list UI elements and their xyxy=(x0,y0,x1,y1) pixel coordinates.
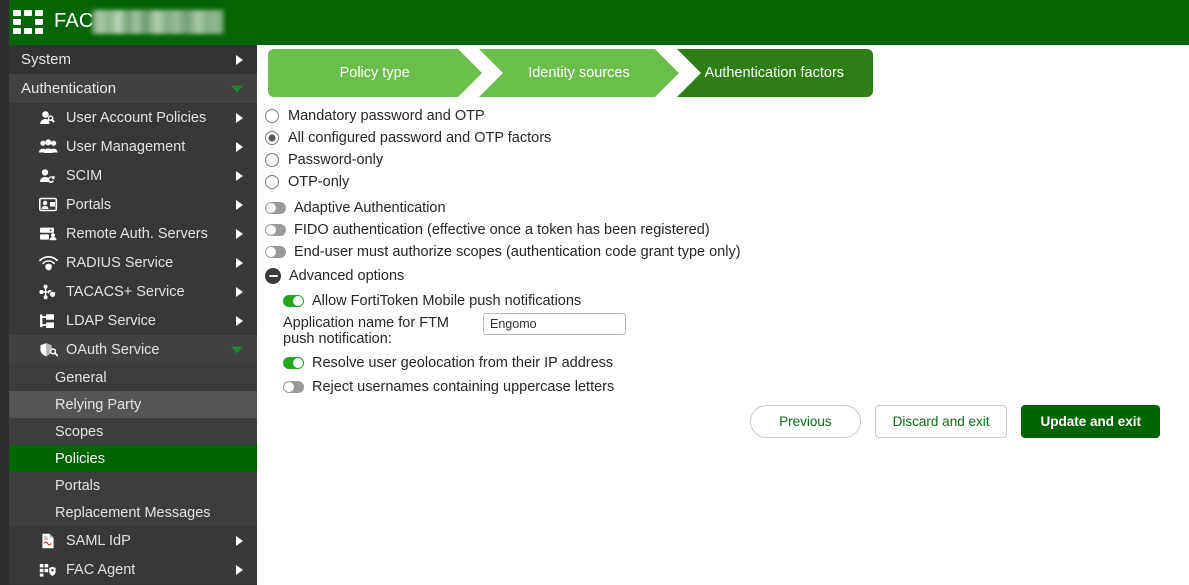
chevron-down-icon xyxy=(231,346,243,353)
header-left-gutter xyxy=(0,0,9,45)
factor-radio-group: Mandatory password and OTP All configure… xyxy=(257,105,1189,193)
wizard-step-authentication-factors[interactable]: Authentication factors xyxy=(677,49,872,97)
chevron-right-icon xyxy=(236,287,243,297)
wizard-steps: Policy type Identity sources Authenticat… xyxy=(268,49,872,97)
sidebar-item-label: Authentication xyxy=(21,80,116,97)
wizard-step-label: Identity sources xyxy=(518,65,640,81)
discard-and-exit-button[interactable]: Discard and exit xyxy=(875,405,1008,438)
sidebar-item-relying-party[interactable]: Relying Party xyxy=(9,391,257,418)
sidebar-item-oauth-service[interactable]: OAuth Service xyxy=(9,335,257,364)
sidebar-item-label: General xyxy=(55,370,107,386)
tacacs-node-shield-icon xyxy=(37,283,59,301)
radio-row-all-configured-factors[interactable]: All configured password and OTP factors xyxy=(265,127,1189,149)
radio-input[interactable] xyxy=(265,153,279,167)
toggle-label: Resolve user geolocation from their IP a… xyxy=(312,355,613,371)
user-sync-icon xyxy=(37,167,59,185)
radio-row-otp-only[interactable]: OTP-only xyxy=(265,171,1189,193)
toggle-switch[interactable] xyxy=(265,202,286,214)
radius-wifi-shield-icon xyxy=(37,254,59,272)
radio-input[interactable] xyxy=(265,175,279,189)
wizard-step-identity-sources[interactable]: Identity sources xyxy=(479,49,678,97)
advanced-options-body: Allow FortiToken Mobile push notificatio… xyxy=(275,289,1189,399)
sidebar-item-label: Policies xyxy=(55,451,105,467)
toggle-switch[interactable] xyxy=(265,246,286,258)
sidebar: System Authentication User Account Polic… xyxy=(0,45,257,585)
toggle-row-authorize-scopes[interactable]: End-user must authorize scopes (authenti… xyxy=(265,241,1189,263)
radio-label: All configured password and OTP factors xyxy=(288,130,551,146)
toggle-label: End-user must authorize scopes (authenti… xyxy=(294,244,741,260)
sidebar-item-label: SAML IdP xyxy=(66,533,131,549)
toggle-row-reject-uppercase-usernames[interactable]: Reject usernames containing uppercase le… xyxy=(283,375,1189,399)
chevron-right-icon xyxy=(236,258,243,268)
sidebar-item-label: OAuth Service xyxy=(66,342,160,358)
sidebar-item-label: Portals xyxy=(66,197,111,213)
sidebar-item-system[interactable]: System xyxy=(9,45,257,74)
toggle-row-resolve-geolocation[interactable]: Resolve user geolocation from their IP a… xyxy=(283,351,1189,375)
sidebar-item-label: LDAP Service xyxy=(66,313,156,329)
oauth-shield-key-icon xyxy=(37,341,59,359)
sidebar-item-policies[interactable]: Policies xyxy=(9,445,257,472)
sidebar-item-portals[interactable]: Portals xyxy=(9,472,257,499)
sidebar-item-fac-agent[interactable]: FAC Agent xyxy=(9,555,257,584)
chevron-right-icon xyxy=(236,55,243,65)
toggle-switch[interactable] xyxy=(283,357,304,369)
chevron-right-icon xyxy=(236,142,243,152)
wizard-step-label: Policy type xyxy=(330,65,420,81)
toggle-label: Reject usernames containing uppercase le… xyxy=(312,379,614,395)
toggle-switch[interactable] xyxy=(283,381,304,393)
radio-label: Mandatory password and OTP xyxy=(288,108,485,124)
remote-server-icon xyxy=(37,225,59,243)
toggle-row-fido-authentication[interactable]: FIDO authentication (effective once a to… xyxy=(265,219,1189,241)
ftm-app-name-input[interactable] xyxy=(483,313,626,335)
wizard-button-row: Previous Discard and exit Update and exi… xyxy=(750,405,1160,438)
sidebar-item-general[interactable]: General xyxy=(9,364,257,391)
sidebar-item-label: User Management xyxy=(66,139,185,155)
toggle-label: Adaptive Authentication xyxy=(294,200,446,216)
redacted-hostname-block xyxy=(92,10,224,34)
sidebar-item-label: Relying Party xyxy=(55,397,141,413)
update-and-exit-button[interactable]: Update and exit xyxy=(1021,405,1160,438)
brand-title: FAC xyxy=(54,10,94,33)
saml-document-icon xyxy=(37,532,59,550)
advanced-options-label: Advanced options xyxy=(289,268,404,284)
sidebar-item-portals-top[interactable]: Portals xyxy=(9,190,257,219)
feature-toggle-group: Adaptive Authentication FIDO authenticat… xyxy=(257,197,1189,263)
sidebar-item-remote-auth-servers[interactable]: Remote Auth. Servers xyxy=(9,219,257,248)
radio-row-password-only[interactable]: Password-only xyxy=(265,149,1189,171)
toggle-switch[interactable] xyxy=(265,224,286,236)
ftm-app-name-label: Application name for FTM push notificati… xyxy=(283,313,483,347)
users-group-icon xyxy=(37,138,59,156)
chevron-right-icon xyxy=(236,171,243,181)
sidebar-item-replacement-messages[interactable]: Replacement Messages xyxy=(9,499,257,526)
sidebar-item-label: TACACS+ Service xyxy=(66,284,185,300)
chevron-right-icon xyxy=(236,316,243,326)
sidebar-item-user-account-policies[interactable]: User Account Policies xyxy=(9,103,257,132)
portal-screen-icon xyxy=(37,196,59,214)
sidebar-item-label: FAC Agent xyxy=(66,562,135,578)
toggle-row-adaptive-authentication[interactable]: Adaptive Authentication xyxy=(265,197,1189,219)
sidebar-item-label: System xyxy=(21,51,71,68)
auth-factors-form: Mandatory password and OTP All configure… xyxy=(257,105,1189,399)
main-content: Policy type Identity sources Authenticat… xyxy=(257,45,1189,585)
chevron-right-icon xyxy=(236,565,243,575)
advanced-options-header[interactable]: Advanced options xyxy=(265,263,1189,289)
sidebar-item-label: Scopes xyxy=(55,424,103,440)
minus-circle-icon[interactable] xyxy=(265,268,281,284)
toggle-row-ftm-push[interactable]: Allow FortiToken Mobile push notificatio… xyxy=(283,289,1189,313)
radio-input[interactable] xyxy=(265,131,279,145)
sidebar-item-label: Remote Auth. Servers xyxy=(66,226,208,242)
sidebar-item-tacacs-service[interactable]: TACACS+ Service xyxy=(9,277,257,306)
sidebar-item-radius-service[interactable]: RADIUS Service xyxy=(9,248,257,277)
sidebar-item-label: RADIUS Service xyxy=(66,255,173,271)
top-header-bar: FAC xyxy=(0,0,1189,45)
radio-label: OTP-only xyxy=(288,174,349,190)
toggle-switch[interactable] xyxy=(283,295,304,307)
sidebar-item-label: User Account Policies xyxy=(66,110,206,126)
wizard-step-policy-type[interactable]: Policy type xyxy=(268,49,481,97)
previous-button[interactable]: Previous xyxy=(750,405,861,438)
fortinet-grid-logo-icon[interactable] xyxy=(13,10,43,34)
chevron-right-icon xyxy=(236,229,243,239)
chevron-down-icon xyxy=(231,85,243,92)
chevron-right-icon xyxy=(236,200,243,210)
sidebar-nav-list: System Authentication User Account Polic… xyxy=(9,45,257,585)
sidebar-item-label: Replacement Messages xyxy=(55,505,211,521)
app-root: FAC System Authentication User Account P… xyxy=(0,0,1189,585)
sidebar-item-label: SCIM xyxy=(66,168,102,184)
radio-row-mandatory-password-otp[interactable]: Mandatory password and OTP xyxy=(265,105,1189,127)
toggle-label: FIDO authentication (effective once a to… xyxy=(294,222,710,238)
sidebar-item-saml-idp[interactable]: SAML IdP xyxy=(9,526,257,555)
sidebar-item-authentication[interactable]: Authentication xyxy=(9,74,257,103)
chevron-right-icon xyxy=(236,536,243,546)
sidebar-item-user-management[interactable]: User Management xyxy=(9,132,257,161)
fac-agent-icon xyxy=(37,561,59,579)
radio-input[interactable] xyxy=(265,109,279,123)
sidebar-item-label: Portals xyxy=(55,478,100,494)
wizard-step-label: Authentication factors xyxy=(695,65,854,81)
ftm-app-name-field-row: Application name for FTM push notificati… xyxy=(283,313,1189,351)
radio-label: Password-only xyxy=(288,152,383,168)
sidebar-item-ldap-service[interactable]: LDAP Service xyxy=(9,306,257,335)
sidebar-item-scim[interactable]: SCIM xyxy=(9,161,257,190)
chevron-right-icon xyxy=(236,113,243,123)
ldap-tree-icon xyxy=(37,312,59,330)
user-wrench-icon xyxy=(37,109,59,127)
sidebar-item-scopes[interactable]: Scopes xyxy=(9,418,257,445)
toggle-label: Allow FortiToken Mobile push notificatio… xyxy=(312,293,581,309)
